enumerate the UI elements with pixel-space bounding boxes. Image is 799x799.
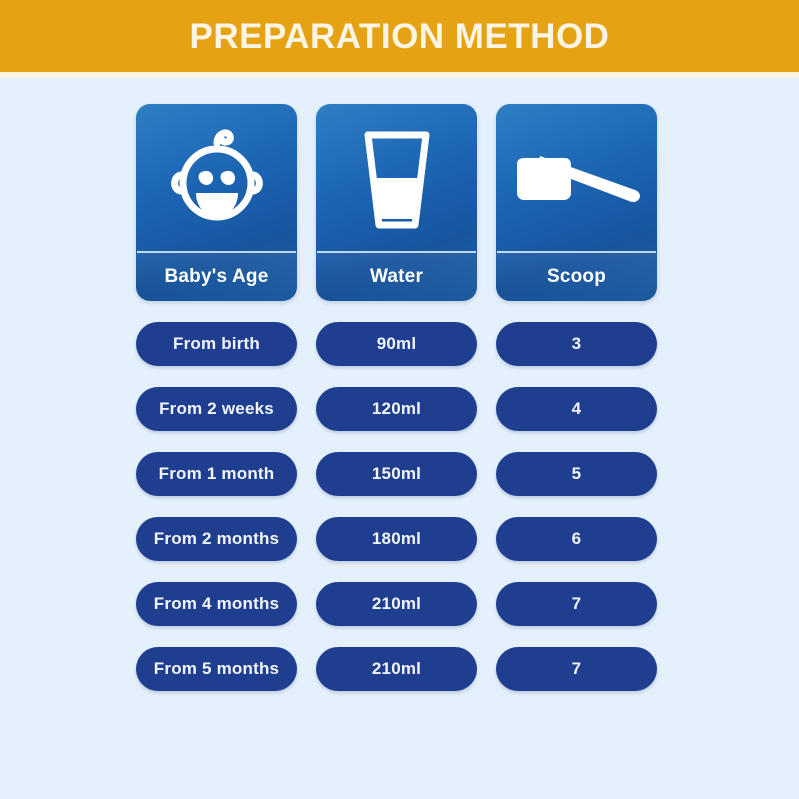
cell-water-text: 180ml bbox=[372, 529, 421, 549]
cell-water[interactable]: 90ml bbox=[316, 322, 477, 366]
cell-water-text: 210ml bbox=[372, 659, 421, 679]
cell-age[interactable]: From 4 months bbox=[136, 582, 297, 626]
cell-age-text: From 5 months bbox=[154, 659, 279, 679]
baby-face-icon bbox=[158, 119, 276, 237]
cell-scoop[interactable]: 5 bbox=[496, 452, 657, 496]
cell-age[interactable]: From 1 month bbox=[136, 452, 297, 496]
cell-age-text: From 2 months bbox=[154, 529, 279, 549]
cell-scoop[interactable]: 3 bbox=[496, 322, 657, 366]
cell-age-text: From 2 weeks bbox=[159, 399, 274, 419]
cell-water[interactable]: 210ml bbox=[316, 647, 477, 691]
cell-scoop-text: 5 bbox=[572, 464, 582, 484]
column-header-label-water: Water bbox=[370, 266, 423, 288]
scoop-icon-area bbox=[496, 104, 657, 251]
cell-scoop[interactable]: 7 bbox=[496, 647, 657, 691]
cell-scoop-text: 6 bbox=[572, 529, 582, 549]
column-header-scoop[interactable]: Scoop bbox=[496, 104, 657, 301]
table-row: From 5 months 210ml 7 bbox=[136, 647, 657, 691]
column-header-babys-age[interactable]: Baby's Age bbox=[136, 104, 297, 301]
water-label-area: Water bbox=[316, 253, 477, 301]
babys-age-icon-area bbox=[136, 104, 297, 251]
column-header-water[interactable]: Water bbox=[316, 104, 477, 301]
cell-water[interactable]: 210ml bbox=[316, 582, 477, 626]
column-header-label-babys-age: Baby's Age bbox=[164, 266, 268, 288]
cell-scoop-text: 4 bbox=[572, 399, 582, 419]
cell-age-text: From birth bbox=[173, 334, 260, 354]
cell-scoop-text: 7 bbox=[572, 659, 582, 679]
page-title: PREPARATION METHOD bbox=[190, 19, 610, 54]
babys-age-label-area: Baby's Age bbox=[136, 253, 297, 301]
water-icon-area bbox=[316, 104, 477, 251]
cell-water[interactable]: 180ml bbox=[316, 517, 477, 561]
cell-water[interactable]: 120ml bbox=[316, 387, 477, 431]
preparation-table: Baby's Age Water bbox=[136, 104, 657, 691]
table-header-row: Baby's Age Water bbox=[136, 104, 657, 301]
cell-water[interactable]: 150ml bbox=[316, 452, 477, 496]
cell-age[interactable]: From birth bbox=[136, 322, 297, 366]
banner-underline bbox=[0, 72, 799, 78]
cell-water-text: 210ml bbox=[372, 594, 421, 614]
cell-age[interactable]: From 2 weeks bbox=[136, 387, 297, 431]
cell-age-text: From 4 months bbox=[154, 594, 279, 614]
cell-water-text: 90ml bbox=[377, 334, 417, 354]
table-row: From 2 months 180ml 6 bbox=[136, 517, 657, 561]
cell-water-text: 120ml bbox=[372, 399, 421, 419]
table-body: From birth 90ml 3 From 2 weeks 120ml 4 F… bbox=[136, 322, 657, 691]
scoop-label-area: Scoop bbox=[496, 253, 657, 301]
table-row: From 4 months 210ml 7 bbox=[136, 582, 657, 626]
table-row: From 1 month 150ml 5 bbox=[136, 452, 657, 496]
cell-age-text: From 1 month bbox=[159, 464, 275, 484]
cell-age[interactable]: From 5 months bbox=[136, 647, 297, 691]
cell-water-text: 150ml bbox=[372, 464, 421, 484]
cell-scoop[interactable]: 4 bbox=[496, 387, 657, 431]
cell-scoop-text: 7 bbox=[572, 594, 582, 614]
water-glass-icon bbox=[354, 122, 440, 234]
cell-scoop-text: 3 bbox=[572, 334, 582, 354]
table-row: From 2 weeks 120ml 4 bbox=[136, 387, 657, 431]
column-header-label-scoop: Scoop bbox=[547, 266, 606, 288]
cell-scoop[interactable]: 7 bbox=[496, 582, 657, 626]
cell-scoop[interactable]: 6 bbox=[496, 517, 657, 561]
cell-age[interactable]: From 2 months bbox=[136, 517, 297, 561]
scoop-icon bbox=[507, 138, 647, 218]
header-banner: PREPARATION METHOD bbox=[0, 0, 799, 72]
table-row: From birth 90ml 3 bbox=[136, 322, 657, 366]
